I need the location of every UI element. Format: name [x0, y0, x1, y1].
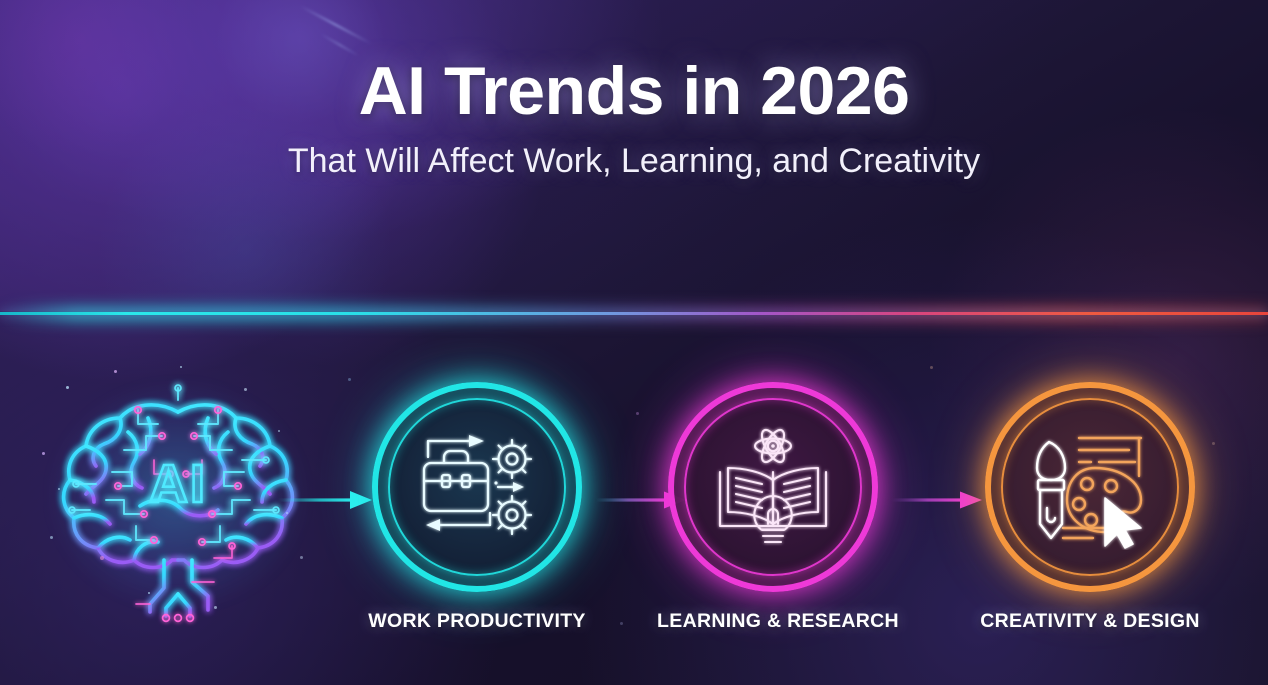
divider-line — [0, 312, 1268, 315]
node-creativity-design[interactable] — [985, 382, 1195, 592]
arrow-learning-to-creativity — [892, 488, 988, 510]
arrow-brain-to-work — [278, 488, 378, 510]
hero-section: AI Trends in 2026 That Will Affect Work,… — [0, 0, 1268, 311]
gradient-divider — [0, 306, 1268, 322]
particle — [1212, 442, 1215, 445]
briefcase-gears-icon — [372, 382, 582, 592]
node-learning-research[interactable] — [668, 382, 878, 592]
particle — [636, 412, 639, 415]
book-atom-bulb-icon — [668, 382, 878, 592]
page-subtitle: That Will Affect Work, Learning, and Cre… — [0, 142, 1268, 181]
paintbrush-palette-cursor-icon — [985, 382, 1195, 592]
node-label-learning-research: LEARNING & RESEARCH — [628, 610, 928, 633]
node-label-work-productivity: WORK PRODUCTIVITY — [327, 610, 627, 633]
svg-text:AI: AI — [149, 454, 207, 514]
node-work-productivity[interactable] — [372, 382, 582, 592]
particle — [930, 366, 933, 369]
infographic-canvas: AI Trends in 2026 That Will Affect Work,… — [0, 0, 1268, 685]
brain-ai-label: AI — [149, 454, 207, 514]
particle — [348, 378, 351, 381]
node-label-creativity-design: CREATIVITY & DESIGN — [940, 610, 1240, 633]
light-streak — [300, 5, 372, 44]
flow-section: AI — [0, 322, 1268, 685]
page-title: AI Trends in 2026 — [0, 52, 1268, 130]
